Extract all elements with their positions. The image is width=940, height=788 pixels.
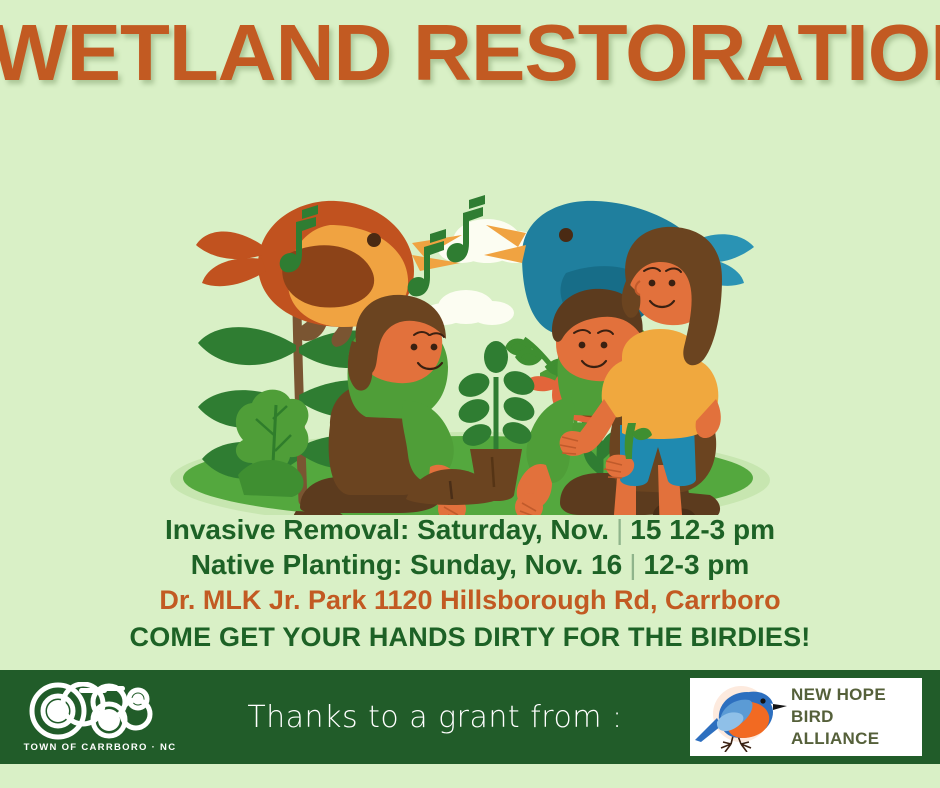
separator-1: | xyxy=(609,514,630,545)
native-planting-label: Native Planting: Sunday, Nov. 16 xyxy=(191,549,623,580)
invasive-removal-label: Invasive Removal: Saturday, Nov. xyxy=(165,514,609,545)
invasive-removal-time: 15 12-3 pm xyxy=(630,514,775,545)
detail-line-invasive-removal: Invasive Removal: Saturday, Nov.|15 12-3… xyxy=(0,512,940,547)
poster-canvas: WETLAND RESTORATION xyxy=(0,0,940,788)
main-illustration xyxy=(0,95,940,515)
page-title: WETLAND RESTORATION xyxy=(0,10,940,96)
sponsor-name: NEW HOPE BIRD ALLIANCE xyxy=(791,684,921,750)
footer-bar: TOWN OF CARRBORO · NC Thanks to a grant … xyxy=(0,670,940,764)
native-planting-time: 12-3 pm xyxy=(643,549,749,580)
thanks-text: Thanks to a grant from : xyxy=(200,700,690,735)
town-of-carrboro-logo: TOWN OF CARRBORO · NC xyxy=(0,670,200,764)
separator-2: | xyxy=(622,549,643,580)
new-hope-bird-alliance-logo: NEW HOPE BIRD ALLIANCE xyxy=(690,678,922,756)
detail-line-native-planting: Native Planting: Sunday, Nov. 16|12-3 pm xyxy=(0,547,940,582)
carrboro-rings-icon xyxy=(25,682,175,740)
green-shrub xyxy=(236,390,308,497)
sponsor-line-1: NEW HOPE xyxy=(791,684,921,706)
carrboro-wordmark: TOWN OF CARRBORO · NC xyxy=(24,742,177,753)
event-address: Dr. MLK Jr. Park 1120 Hillsborough Rd, C… xyxy=(0,582,940,618)
sponsor-line-2: BIRD ALLIANCE xyxy=(791,706,921,750)
bluebird-icon xyxy=(691,682,791,752)
slogan-text: COME GET YOUR HANDS DIRTY FOR THE BIRDIE… xyxy=(0,622,940,653)
event-details: Invasive Removal: Saturday, Nov.|15 12-3… xyxy=(0,512,940,618)
